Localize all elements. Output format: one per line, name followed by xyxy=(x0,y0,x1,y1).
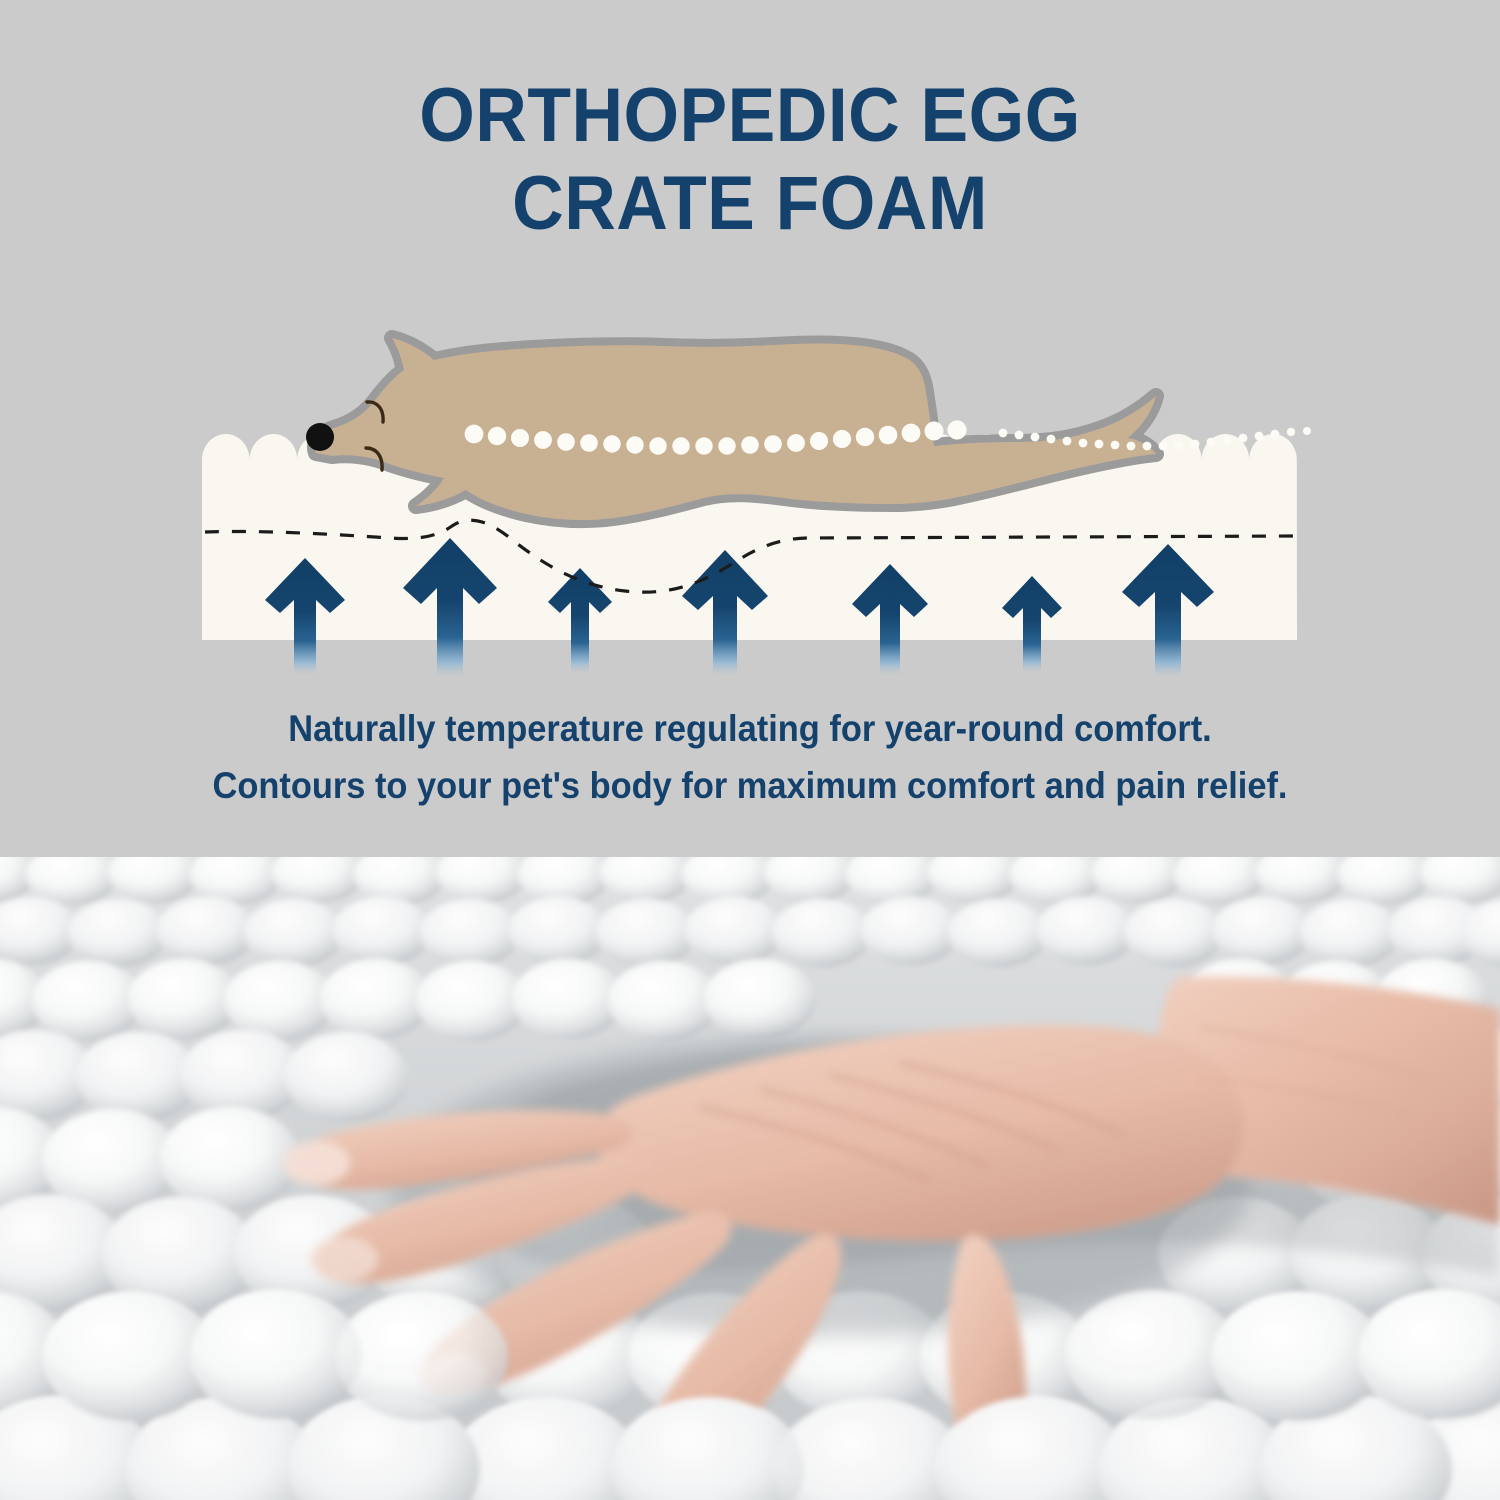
feature-caption: Naturally temperature regulating for yea… xyxy=(53,700,1448,814)
dog-nose xyxy=(306,423,334,451)
page-title: ORTHOPEDIC EGG CRATE FOAM xyxy=(45,72,1455,248)
page-title-line-2: CRATE FOAM xyxy=(512,161,988,246)
page-title-line-1: ORTHOPEDIC EGG xyxy=(419,73,1081,158)
foam-front-face-overlay xyxy=(202,506,1297,640)
top-info-panel: ORTHOPEDIC EGG CRATE FOAM xyxy=(0,0,1500,857)
caption-line-2: Contours to your pet's body for maximum … xyxy=(53,757,1448,814)
foam-texture-photo xyxy=(0,857,1500,1500)
infographic-page: ORTHOPEDIC EGG CRATE FOAM xyxy=(0,0,1500,1500)
caption-line-1: Naturally temperature regulating for yea… xyxy=(53,700,1448,757)
diagram-illustration xyxy=(0,300,1500,680)
